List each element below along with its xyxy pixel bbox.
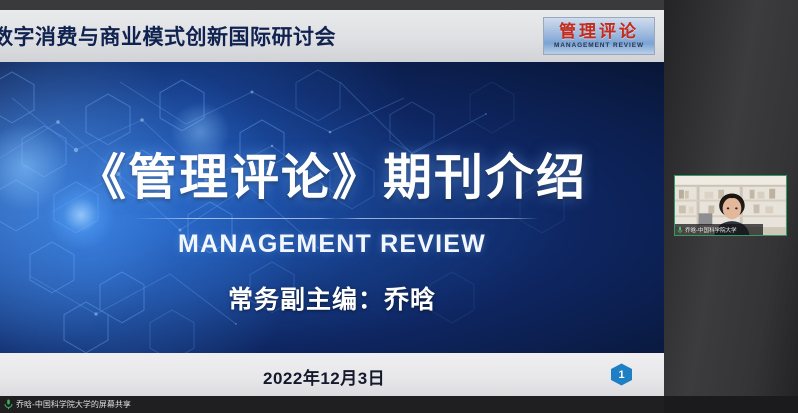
participant-name-overlay: 乔晗-中国科学院大学 (675, 224, 763, 235)
journal-logo-cn-text: 管理评论 (559, 23, 639, 40)
journal-logo-en-text: MANAGEMENT REVIEW (554, 43, 644, 50)
status-bar-right-fill (664, 396, 798, 413)
journal-logo: 管理评论 MANAGEMENT REVIEW (543, 17, 655, 55)
title-divider (133, 218, 539, 219)
participants-panel[interactable]: 乔晗-中国科学院大学 (664, 0, 798, 413)
screen-share-icon (4, 399, 13, 410)
zoom-meeting-window: 数字消费与商业模式创新国际研讨会 管理评论 MANAGEMENT REVIEW (0, 0, 798, 413)
conference-title: 数字消费与商业模式创新国际研讨会 (0, 21, 336, 51)
page-number-text: 1 (609, 362, 634, 387)
participant-name-text: 乔晗-中国科学院大学 (685, 226, 737, 234)
slide-header-bar: 数字消费与商业模式创新国际研讨会 管理评论 MANAGEMENT REVIEW (0, 10, 664, 62)
slide-footer-bar: 2022年12月3日 1 (0, 353, 664, 396)
slide-presenter: 常务副主编：乔晗 (0, 280, 664, 316)
participant-video-tile[interactable]: 乔晗-中国科学院大学 (674, 175, 787, 236)
microphone-icon (677, 226, 683, 234)
share-top-strip (0, 0, 664, 10)
screen-share-status-text: 乔晗-中国科学院大学的屏幕共享 (16, 399, 131, 410)
slide-main-title: 《管理评论》期刊介绍 (0, 154, 664, 203)
page-number-badge: 1 (609, 362, 634, 387)
shared-screen-region[interactable]: 数字消费与商业模式创新国际研讨会 管理评论 MANAGEMENT REVIEW (0, 10, 664, 396)
slide-date: 2022年12月3日 (263, 364, 385, 389)
slide-subtitle: MANAGEMENT REVIEW (0, 230, 664, 259)
slide-body: 《管理评论》期刊介绍 MANAGEMENT REVIEW 常务副主编：乔晗 (0, 62, 664, 353)
